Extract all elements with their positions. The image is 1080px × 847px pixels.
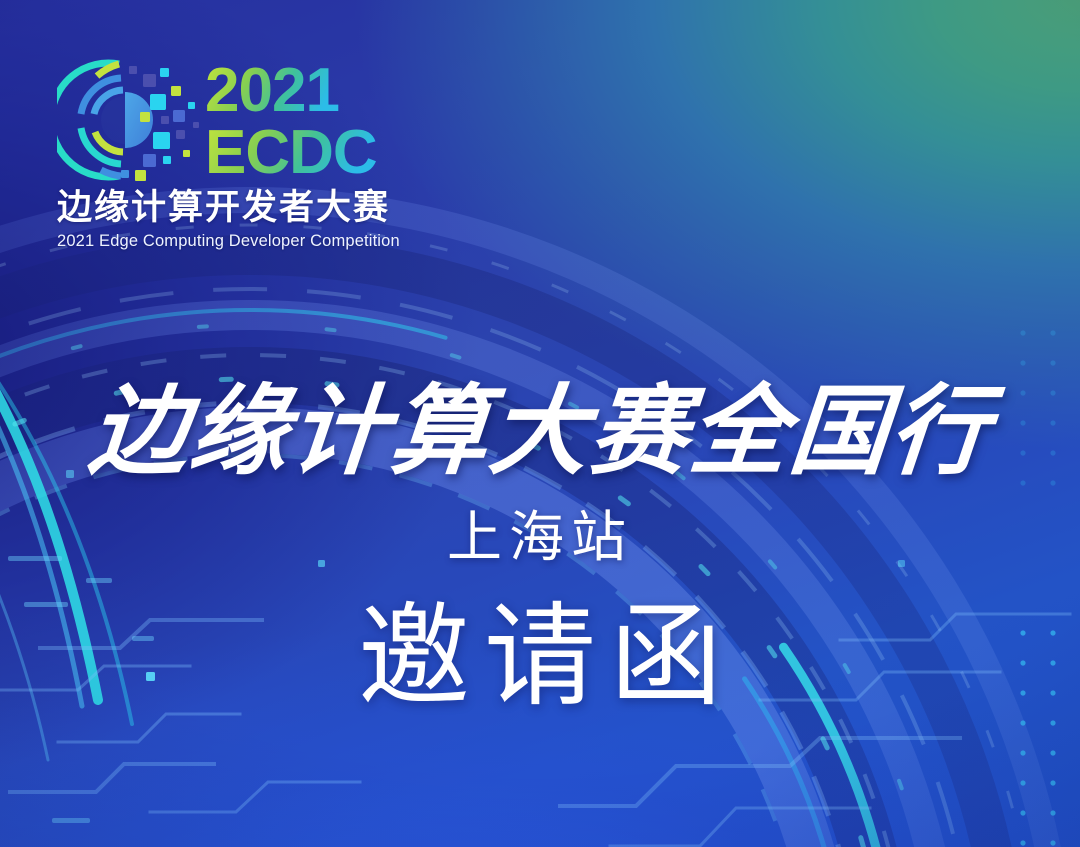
city-subtitle: 上海站 — [0, 510, 1080, 565]
logo-acronym-text: ECDC — [205, 118, 377, 185]
headline-block: 边缘计算大赛全国行 上海站 邀请函 — [0, 382, 1080, 713]
logo-wordmark: 2021 ECDC — [205, 55, 395, 185]
main-title: 边缘计算大赛全国行 — [0, 382, 1080, 480]
logo-name-en: 2021 Edge Computing Developer Competitio… — [57, 232, 397, 251]
logo-year-text: 2021 — [205, 56, 339, 125]
invitation-title: 邀请函 — [0, 601, 1080, 713]
invitation-poster: 2021 ECDC 边缘计算开发者大赛 2021 Edge Computing … — [0, 0, 1080, 847]
logo-name-cn: 边缘计算开发者大赛 — [57, 188, 397, 228]
event-logo: 2021 ECDC 边缘计算开发者大赛 2021 Edge Computing … — [57, 58, 397, 251]
ecdc-radial-pixel-mark-icon — [57, 58, 207, 183]
